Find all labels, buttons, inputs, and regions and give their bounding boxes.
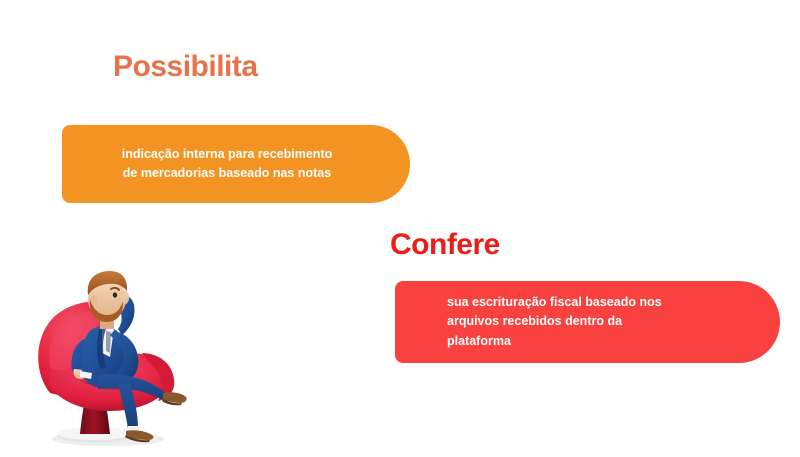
figure-ear bbox=[91, 295, 98, 305]
slide-canvas: Possibilita indicação interna para receb… bbox=[0, 0, 800, 457]
callout-line: arquivos recebidos dentro da bbox=[447, 312, 734, 331]
callout-pill-possibilita: indicação interna para recebimento de me… bbox=[62, 125, 410, 203]
heading-possibilita: Possibilita bbox=[113, 52, 258, 82]
callout-line: de mercadorias baseado nas notas bbox=[78, 164, 376, 183]
callout-pill-confere: sua escrituração fiscal baseado nos arqu… bbox=[395, 281, 780, 363]
figure-eye bbox=[113, 292, 117, 297]
callout-line: indicação interna para recebimento bbox=[78, 145, 376, 164]
callout-line: plataforma bbox=[447, 332, 734, 351]
heading-confere: Confere bbox=[390, 230, 500, 260]
illustration-businessman-on-phone-in-red-armchair bbox=[22, 243, 212, 448]
callout-line: sua escrituração fiscal baseado nos bbox=[447, 293, 734, 312]
